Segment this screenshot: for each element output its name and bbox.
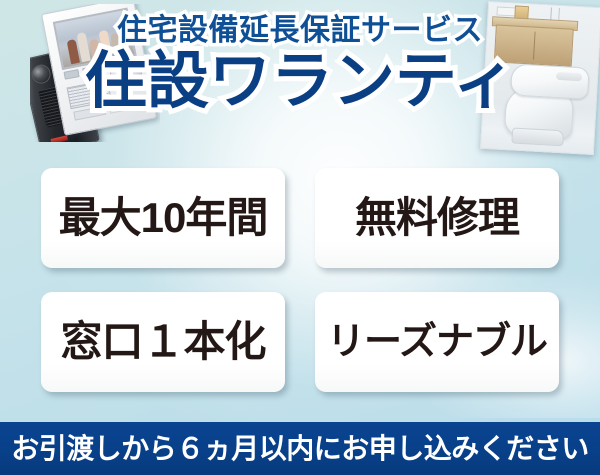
monitor-dial-icon [107, 55, 145, 93]
feature-card-grid: 最大10年間 無料修理 窓口１本化 リーズナブル [41, 168, 559, 392]
intercom-photo [30, 4, 160, 142]
feature-card-label: リーズナブル [327, 323, 547, 361]
toilet-base [511, 127, 564, 146]
monitor-speaker-icon [67, 80, 112, 110]
feature-card-label: 無料修理 [355, 197, 519, 239]
feature-card-single-contact[interactable]: 窓口１本化 [41, 292, 285, 392]
banner-text: お引渡しから６ヵ月以内にお申し込みください [11, 435, 589, 463]
feature-card-label: 最大10年間 [59, 197, 268, 239]
feature-card-reasonable[interactable]: リーズナブル [315, 292, 559, 392]
monitor-label-secondary [109, 99, 142, 114]
call-button-icon [50, 135, 68, 142]
feature-card-max-years[interactable]: 最大10年間 [41, 168, 285, 268]
screen-figure [110, 33, 123, 56]
feature-card-label: 窓口１本化 [60, 321, 265, 363]
monitor-label [73, 106, 106, 121]
application-deadline-banner: お引渡しから６ヵ月以内にお申し込みください [0, 422, 600, 475]
wall-cabinet-icon [494, 24, 574, 66]
camera-lens-icon [30, 63, 52, 86]
toilet-photo [480, 1, 600, 155]
promo-poster: 住宅設備延長保証サービス 住設ワランティ 最大10年間 無料修理 窓口１本化 リ… [0, 0, 600, 475]
toilet-seat-lid-icon [510, 63, 590, 99]
feature-card-free-repair[interactable]: 無料修理 [315, 168, 559, 268]
